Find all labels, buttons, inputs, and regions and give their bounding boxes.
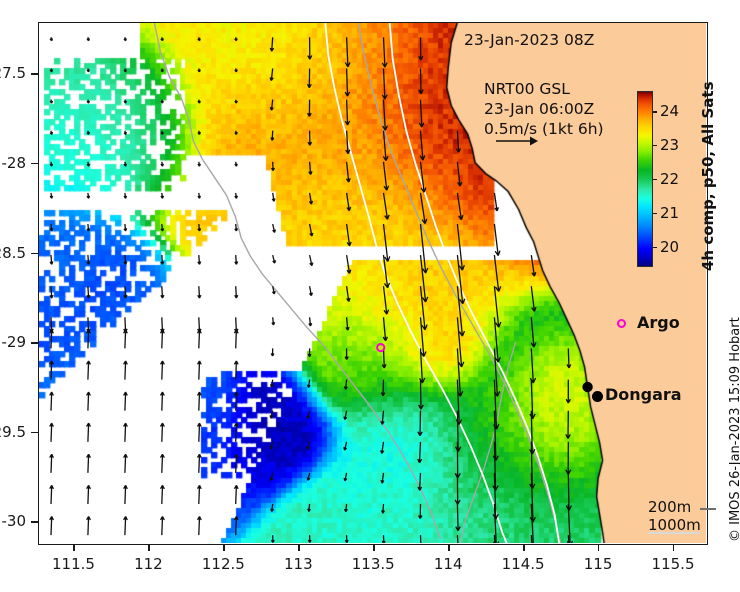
- current-vector-arrow: [50, 162, 52, 167]
- current-vector-arrow: [87, 286, 90, 298]
- current-vector-arrow: [345, 348, 348, 359]
- colorbar-tick-label: 23: [660, 136, 679, 154]
- current-vector-arrow: [50, 69, 52, 72]
- current-vector-arrow: [530, 348, 535, 383]
- current-vector-arrow: [494, 255, 500, 291]
- x-axis-label: 113: [284, 555, 313, 573]
- colorbar-tick: [653, 213, 657, 214]
- current-vector-arrow: [87, 162, 90, 167]
- current-vector-arrow: [270, 411, 273, 419]
- current-vector-arrow: [124, 37, 126, 41]
- current-vector-arrow: [198, 392, 202, 411]
- current-vector-arrow: [344, 411, 347, 420]
- product-label-line1: NRT00 GSL: [484, 79, 570, 99]
- isobath-1000m-contour: [325, 23, 506, 543]
- current-vector-arrow: [124, 255, 127, 264]
- current-vector-arrow: [161, 361, 165, 380]
- current-vector-arrow: [124, 100, 126, 104]
- current-vector-arrow: [124, 392, 128, 411]
- current-vector-arrow: [270, 69, 273, 81]
- current-vector-arrow: [235, 100, 237, 104]
- x-axis-tick: [148, 544, 149, 551]
- current-vector-arrow: [50, 37, 52, 41]
- current-vector-arrow: [124, 193, 127, 199]
- current-vector-arrow: [87, 392, 91, 411]
- current-vector-arrow: [198, 131, 200, 135]
- map-plot-area[interactable]: [38, 22, 708, 545]
- current-vector-arrow: [234, 423, 238, 442]
- current-vector-arrow: [418, 473, 422, 491]
- current-vector-arrow: [383, 317, 387, 341]
- current-vector-arrow: [419, 380, 424, 410]
- current-vector-arrow: [124, 162, 126, 167]
- current-vector-arrow: [382, 69, 387, 100]
- current-vector-arrow: [87, 330, 91, 349]
- current-vector-arrow: [457, 193, 463, 220]
- y-axis-tick: [31, 163, 38, 164]
- argo-float-marker[interactable]: [377, 344, 384, 351]
- current-vector-arrow: [87, 37, 89, 41]
- current-vector-arrow: [50, 100, 52, 104]
- current-vector-arrow: [381, 473, 384, 483]
- x-axis-label: 115.5: [652, 555, 695, 573]
- current-vector-arrow: [124, 330, 128, 349]
- current-vector-arrow: [345, 69, 350, 97]
- current-vector-arrow: [567, 348, 571, 368]
- current-vector-arrow: [308, 131, 311, 146]
- y-axis-tick: [31, 253, 38, 254]
- current-vector-arrow: [270, 37, 273, 51]
- current-vector-arrow: [531, 255, 536, 276]
- current-vector-arrow: [87, 131, 89, 135]
- current-vector-arrow: [235, 69, 237, 72]
- current-vector-arrow: [381, 411, 384, 425]
- current-vector-arrow: [198, 69, 200, 72]
- current-vector-arrow: [198, 286, 201, 298]
- current-vector-arrow: [346, 317, 349, 330]
- current-vector-arrow: [382, 535, 385, 543]
- current-vector-arrow: [87, 193, 90, 199]
- current-vector-arrow: [271, 131, 274, 141]
- current-vector-arrow: [273, 224, 276, 233]
- current-vector-arrow: [161, 392, 165, 411]
- current-vector-arrow: [272, 193, 275, 201]
- colorbar-tick: [653, 145, 657, 146]
- current-vector-arrow: [161, 423, 165, 442]
- current-vector-arrow: [234, 330, 238, 349]
- current-vector-arrow: [457, 131, 461, 153]
- isobath-200m-contour: [154, 23, 440, 539]
- colorbar-gradient: [637, 91, 653, 267]
- x-axis-tick: [373, 544, 374, 551]
- current-vector-arrow: [384, 286, 389, 314]
- current-vector-arrow: [87, 100, 89, 104]
- current-vector-arrow: [494, 224, 500, 256]
- x-axis-label: 114.5: [502, 555, 545, 573]
- current-vector-arrow: [310, 255, 313, 266]
- colorbar-tick: [653, 179, 657, 180]
- current-vector-arrow: [161, 37, 163, 41]
- y-axis-tick: [31, 521, 38, 522]
- current-vector-arrow: [235, 255, 238, 264]
- current-vector-arrow: [419, 535, 422, 543]
- current-vector-arrow: [124, 224, 127, 231]
- dongara-map-marker[interactable]: [582, 382, 592, 392]
- current-vector-arrow: [235, 286, 238, 298]
- current-vector-arrow: [234, 485, 238, 504]
- current-vector-arrow: [346, 162, 350, 182]
- current-vector-arrow: [531, 286, 536, 311]
- current-vector-arrow: [271, 504, 274, 512]
- x-axis-label: 111.5: [52, 555, 95, 573]
- current-vector-arrow: [309, 162, 312, 175]
- current-vector-arrow: [235, 162, 238, 167]
- current-vector-arrow: [566, 411, 571, 439]
- current-vector-arrow: [566, 442, 571, 475]
- argo-legend-marker-icon: [617, 319, 626, 328]
- colorbar-tick-label: 20: [660, 238, 679, 256]
- current-vector-arrow: [50, 423, 54, 442]
- x-axis-tick: [673, 544, 674, 551]
- current-vector-arrow: [50, 286, 53, 298]
- current-vector-arrow: [50, 330, 54, 349]
- current-vector-arrow: [308, 100, 312, 117]
- current-vector-arrow: [270, 473, 273, 481]
- current-vector-arrow: [161, 193, 164, 199]
- current-vector-arrow: [347, 286, 351, 301]
- current-vector-arrow: [382, 37, 387, 67]
- current-vector-arrow: [309, 193, 312, 204]
- current-vector-arrow: [418, 411, 422, 436]
- current-vector-arrow: [234, 361, 238, 380]
- isobath-1000m-swatch: [648, 532, 700, 534]
- current-vector-arrow: [307, 411, 310, 419]
- current-vector-arrow: [346, 131, 350, 154]
- current-vector-arrow: [566, 380, 570, 403]
- y-axis-tick: [31, 432, 38, 433]
- current-vector-arrow: [381, 380, 385, 396]
- current-vector-arrow: [124, 516, 128, 535]
- current-vector-arrow: [568, 535, 573, 543]
- imos-credit: © IMOS 26-Jan-2023 15:09 Hobart: [728, 317, 740, 542]
- current-vector-arrow: [198, 224, 201, 231]
- x-axis-label: 112.5: [202, 555, 245, 573]
- current-vector-arrow: [381, 442, 384, 454]
- current-vector-arrow: [345, 100, 349, 126]
- current-vector-arrow: [273, 255, 276, 263]
- current-vector-arrow: [270, 100, 273, 111]
- y-axis-label: -30: [2, 512, 27, 530]
- current-vector-arrow: [87, 255, 90, 264]
- current-vector-arrow: [234, 392, 238, 411]
- figure-canvas: 111.5112112.5113113.5114114.5115115.5-27…: [0, 0, 740, 592]
- colorbar-tick-label: 24: [660, 102, 679, 120]
- current-vector-arrow: [50, 255, 53, 264]
- current-vector-arrow: [50, 361, 54, 380]
- current-vector-arrow: [308, 535, 311, 543]
- current-vector-arrow: [50, 224, 53, 231]
- current-vector-arrow: [421, 162, 426, 193]
- x-axis-label: 114: [434, 555, 463, 573]
- current-vector-arrow: [124, 361, 128, 380]
- current-vector-arrow: [198, 516, 202, 535]
- isobath-200m-swatch: [700, 508, 716, 510]
- current-vector-arrow: [161, 255, 164, 264]
- current-vector-arrow: [384, 193, 390, 219]
- current-vector-arrow: [124, 69, 126, 72]
- product-label-line2: 23-Jan 06:00Z: [484, 99, 594, 119]
- current-vector-arrow: [384, 162, 389, 191]
- argo-legend-label: Argo: [637, 313, 680, 332]
- map-overlay-layer: [39, 23, 706, 543]
- current-vector-arrow: [50, 131, 52, 135]
- dongara-town-label: Dongara: [605, 385, 682, 404]
- x-axis-tick: [298, 544, 299, 551]
- colorbar-tick: [653, 247, 657, 248]
- current-vector-arrow: [50, 516, 54, 535]
- current-vector-arrow: [124, 286, 127, 298]
- y-axis-label: -28.5: [0, 244, 26, 262]
- current-vector-arrow: [494, 193, 498, 211]
- current-vector-arrow: [198, 330, 202, 349]
- y-axis-label: -28: [2, 154, 27, 172]
- current-vector-arrow: [420, 131, 425, 160]
- current-vector-arrow: [161, 330, 165, 349]
- current-vector-arrow: [419, 504, 422, 519]
- current-vector-arrow: [271, 380, 274, 388]
- current-vector-arrow: [87, 485, 91, 504]
- current-vector-arrow: [310, 224, 313, 236]
- current-vector-arrow: [50, 193, 53, 199]
- current-vector-arrow: [457, 162, 461, 186]
- isobath-200m-label: 200m: [648, 498, 691, 516]
- current-vector-arrow: [161, 224, 164, 231]
- y-axis-label: -29: [2, 333, 27, 351]
- current-vector-arrow: [344, 380, 347, 390]
- current-vector-arrow: [347, 255, 351, 273]
- current-vector-arrow: [272, 162, 275, 171]
- y-axis-tick: [31, 73, 38, 74]
- y-axis-tick: [31, 342, 38, 343]
- current-vector-arrow: [308, 348, 311, 356]
- current-vector-arrow: [87, 423, 91, 442]
- current-vector-arrow: [345, 504, 348, 512]
- current-vector-arrow: [161, 286, 164, 298]
- current-vector-arrow: [308, 380, 311, 388]
- current-vector-arrow: [308, 69, 312, 88]
- current-vector-arrow: [531, 535, 537, 543]
- current-vector-arrow: [198, 100, 200, 104]
- current-vector-arrow: [235, 37, 237, 41]
- current-vector-arrow: [50, 454, 54, 473]
- current-vector-arrow: [307, 442, 310, 450]
- x-axis-tick: [523, 544, 524, 551]
- colorbar-tick-label: 21: [660, 204, 679, 222]
- current-vector-arrow: [344, 442, 347, 450]
- current-vector-arrow: [124, 454, 128, 473]
- current-vector-arrow: [344, 473, 347, 481]
- x-axis-tick: [223, 544, 224, 551]
- current-vector-arrow: [271, 348, 274, 356]
- current-vector-arrow: [345, 535, 348, 543]
- current-vector-arrow: [198, 485, 202, 504]
- x-axis-label: 112: [134, 555, 163, 573]
- current-vector-arrow: [235, 131, 237, 135]
- current-vector-arrow: [50, 485, 54, 504]
- current-vector-arrow: [161, 100, 163, 104]
- current-vector-arrow: [418, 442, 422, 463]
- current-vector-arrow: [419, 100, 424, 128]
- current-vector-arrow: [310, 286, 313, 296]
- current-vector-arrow: [198, 454, 202, 473]
- current-vector-arrow: [308, 504, 311, 512]
- x-axis-tick: [598, 544, 599, 551]
- current-vector-arrow: [87, 516, 91, 535]
- current-vector-arrow: [198, 423, 202, 442]
- current-vector-arrow: [531, 317, 536, 347]
- colorbar-tick-label: 22: [660, 170, 679, 188]
- current-vector-arrow: [234, 516, 238, 535]
- current-vector-arrow: [198, 162, 200, 167]
- current-vector-arrow: [124, 423, 128, 442]
- dongara-town-marker-icon: [592, 391, 603, 402]
- current-vector-arrow: [87, 224, 90, 231]
- current-vector-arrow: [87, 69, 89, 72]
- x-axis-label: 113.5: [352, 555, 395, 573]
- current-vector-arrow: [198, 361, 202, 380]
- reference-vector-arrow: [494, 133, 540, 149]
- current-vector-arrow: [161, 516, 165, 535]
- current-vector-arrow: [161, 485, 165, 504]
- y-axis-label: -27.5: [0, 64, 26, 82]
- current-vector-arrow: [456, 504, 460, 531]
- colorbar-tick: [653, 111, 657, 112]
- current-vector-arrow: [198, 37, 200, 41]
- current-vector-arrow: [347, 193, 351, 211]
- current-vector-arrow: [124, 485, 128, 504]
- current-vector-arrow: [384, 224, 390, 262]
- current-vector-arrow: [455, 473, 460, 505]
- current-vector-arrow: [235, 193, 238, 199]
- datetime-annotation: 23-Jan-2023 08Z: [464, 31, 594, 49]
- y-axis-label: -29.5: [0, 423, 26, 441]
- current-vector-arrow: [50, 392, 54, 411]
- current-vector-arrow: [161, 69, 163, 72]
- current-vector-arrow: [87, 361, 91, 380]
- current-vector-arrow: [234, 454, 238, 473]
- current-vector-arrow: [124, 131, 126, 135]
- current-vector-arrow: [161, 131, 163, 135]
- current-vector-arrow: [308, 37, 312, 59]
- current-vector-arrow: [345, 37, 350, 67]
- current-vector-arrow: [309, 317, 312, 326]
- x-axis-tick: [73, 544, 74, 551]
- current-vector-arrow: [198, 255, 201, 264]
- current-vector-arrow: [272, 317, 275, 325]
- current-vector-arrow: [419, 69, 423, 94]
- current-vector-arrow: [271, 535, 274, 543]
- current-vector-arrow: [530, 380, 535, 419]
- current-vector-arrow: [198, 193, 201, 199]
- current-vector-arrow: [161, 454, 165, 473]
- x-axis-label: 115: [584, 555, 613, 573]
- current-vector-arrow: [161, 162, 164, 167]
- current-vector-arrow: [270, 442, 273, 450]
- current-vector-arrow: [347, 224, 352, 246]
- current-vector-arrow: [307, 473, 310, 481]
- x-axis-tick: [448, 544, 449, 551]
- current-vector-arrow: [382, 504, 385, 513]
- current-vector-arrow: [419, 37, 423, 60]
- current-vector-arrow: [87, 454, 91, 473]
- colorbar-title: 4h comp, p50, All Sats: [699, 82, 717, 272]
